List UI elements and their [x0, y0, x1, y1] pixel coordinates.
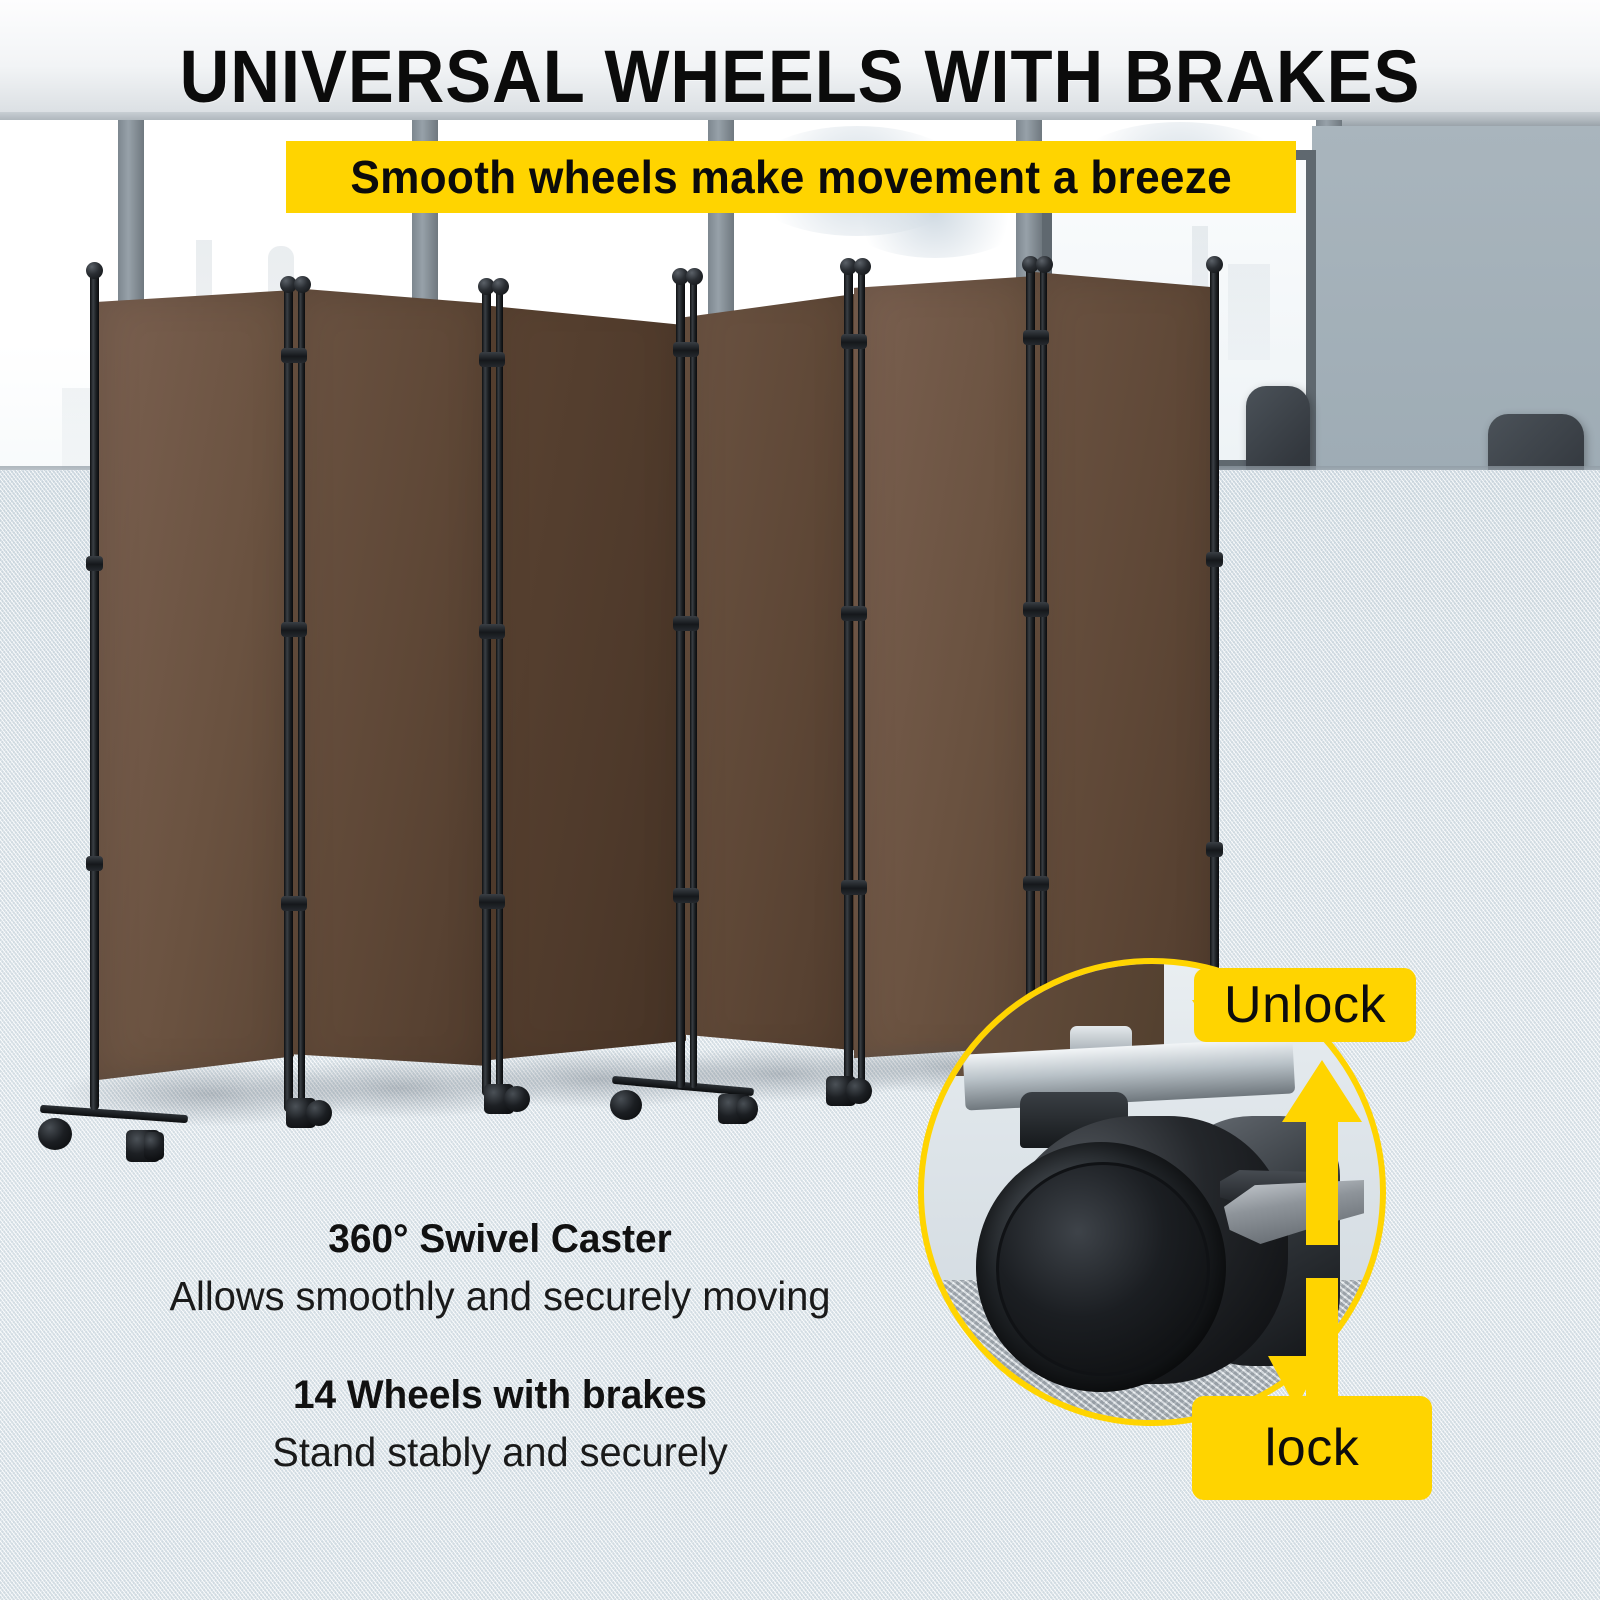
- feature-title: 14 Wheels with brakes: [73, 1372, 927, 1418]
- pole-clamp: [1023, 602, 1049, 617]
- caster-wheel: [306, 1100, 332, 1126]
- feature-block-swivel: 360° Swivel Caster Allows smoothly and s…: [60, 1216, 940, 1321]
- divider-pole: [690, 278, 697, 1088]
- pole-clamp: [1206, 842, 1223, 857]
- pole-clamp: [281, 622, 307, 637]
- pole-clamp: [1206, 552, 1223, 567]
- pole-clamp: [673, 888, 699, 903]
- divider-pole: [1040, 266, 1047, 1082]
- divider-pole: [1210, 266, 1219, 1056]
- pole-clamp: [479, 352, 505, 367]
- divider-pole: [1026, 266, 1035, 1082]
- pole-clamp: [479, 894, 505, 909]
- caster-wheel: [38, 1118, 72, 1150]
- pole-finial: [1036, 256, 1053, 273]
- divider-panel: [488, 290, 686, 1072]
- lock-badge: lock: [1192, 1396, 1432, 1500]
- lock-label: lock: [1265, 1418, 1359, 1478]
- divider-panel: [684, 282, 856, 1066]
- caster-wheel: [846, 1078, 872, 1104]
- feature-subtitle: Allows smoothly and securely moving: [73, 1272, 927, 1321]
- divider-pole: [496, 288, 503, 1096]
- pole-finial: [1206, 256, 1223, 273]
- pole-clamp: [673, 616, 699, 631]
- pole-clamp: [86, 556, 103, 571]
- divider-pole: [284, 286, 293, 1112]
- pole-finial: [492, 278, 509, 295]
- pole-clamp: [841, 880, 867, 895]
- feature-title: 360° Swivel Caster: [73, 1216, 927, 1262]
- caster-wheel: [610, 1090, 642, 1120]
- divider-pole: [90, 272, 99, 1110]
- divider-pole: [858, 268, 865, 1086]
- inset-caster-hub: [996, 1162, 1210, 1376]
- unlock-badge: Unlock: [1194, 968, 1416, 1042]
- divider-pole: [482, 288, 491, 1096]
- pole-finial: [854, 258, 871, 275]
- pole-clamp: [841, 334, 867, 349]
- caster-wheel: [504, 1086, 530, 1112]
- subtitle-banner: Smooth wheels make movement a breeze: [286, 141, 1296, 213]
- caster-wheel: [736, 1096, 758, 1122]
- arrow-up-icon: [1282, 1060, 1362, 1245]
- pole-finial: [294, 276, 311, 293]
- pole-finial: [686, 268, 703, 285]
- divider-panel: [292, 288, 490, 1078]
- unlock-label: Unlock: [1224, 975, 1386, 1035]
- divider-pole: [298, 286, 305, 1112]
- pole-clamp: [673, 342, 699, 357]
- divider-pole: [844, 268, 853, 1086]
- subtitle-text: Smooth wheels make movement a breeze: [350, 150, 1232, 204]
- divider-panel: [854, 276, 1036, 1066]
- pole-clamp: [86, 856, 103, 871]
- feature-block-wheels: 14 Wheels with brakes Stand stably and s…: [60, 1372, 940, 1477]
- city-skyline: [1228, 264, 1270, 360]
- pole-finial: [86, 262, 103, 279]
- pole-clamp: [1023, 876, 1049, 891]
- feature-subtitle: Stand stably and securely: [73, 1428, 927, 1477]
- pole-clamp: [281, 348, 307, 363]
- divider-panel: [1034, 272, 1218, 1056]
- caster-wheel: [144, 1132, 164, 1160]
- pole-clamp: [1023, 330, 1049, 345]
- product-marketing-image: UNIVERSAL WHEELS WITH BRAKES Smooth whee…: [0, 0, 1600, 1600]
- pole-clamp: [281, 896, 307, 911]
- page-title: UNIVERSAL WHEELS WITH BRAKES: [56, 34, 1544, 119]
- divider-pole: [676, 278, 685, 1088]
- pole-clamp: [841, 606, 867, 621]
- pole-clamp: [479, 624, 505, 639]
- divider-panel: [98, 290, 294, 1080]
